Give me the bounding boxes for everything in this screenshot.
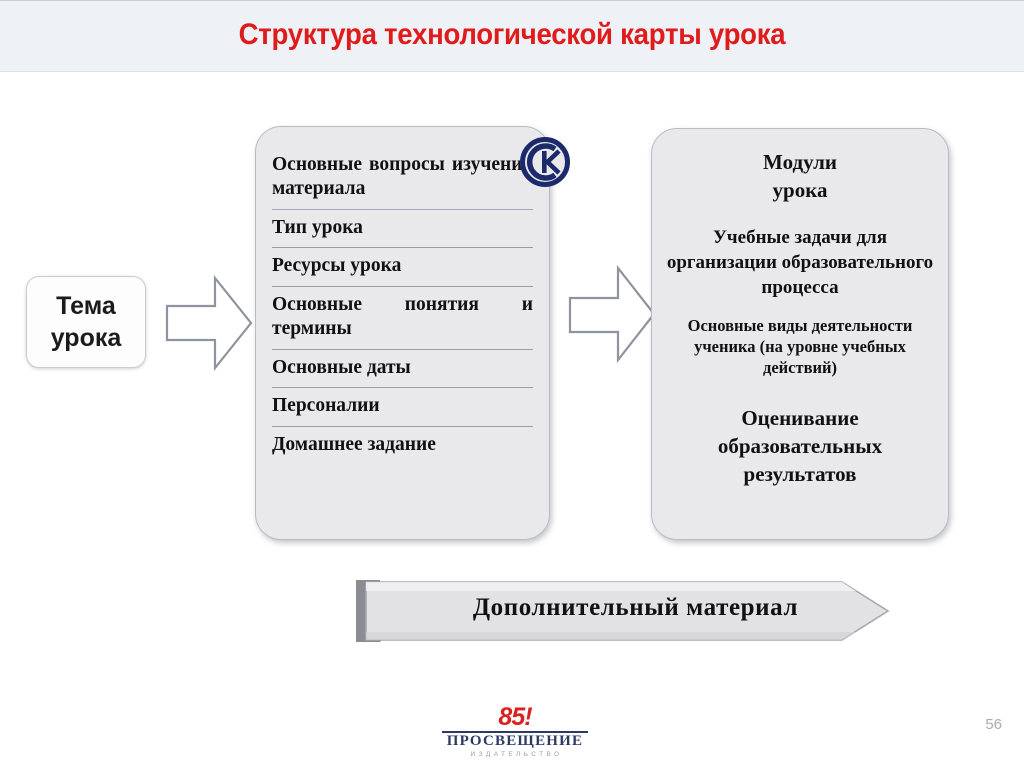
ribbon-shape [350, 570, 895, 650]
arrow-right-icon-1 [163, 268, 255, 378]
topic-box[interactable]: Тема урока [26, 276, 146, 368]
lesson-modules-title-line-1: Модули [662, 149, 938, 177]
list-item[interactable]: Тип урока [272, 210, 533, 249]
list-item[interactable]: Основные даты [272, 350, 533, 389]
sk-monogram-logo-icon [519, 136, 571, 188]
lesson-card-items-list: Основные вопросы изучения материала Тип … [272, 153, 533, 465]
lesson-modules-title: Модули урока [662, 149, 938, 204]
topic-box-line-2: урока [51, 322, 122, 354]
list-item[interactable]: Ресурсы урока [272, 248, 533, 287]
page-number: 56 [985, 716, 1002, 733]
modules-block-student-activities[interactable]: Основные виды деятельности ученика (на у… [662, 315, 938, 378]
additional-material-ribbon[interactable]: Дополнительный материал [350, 570, 895, 650]
lesson-modules-panel: Модули урока Учебные задачи для организа… [651, 128, 949, 540]
lesson-modules-title-line-2: урока [662, 177, 938, 205]
list-item[interactable]: Домашнее задание [272, 427, 533, 465]
list-item[interactable]: Основные понятия и термины [272, 287, 533, 350]
modules-block-assessment[interactable]: Оценивание образовательных результатов [662, 404, 938, 488]
publisher-logo-name: ПРОСВЕЩЕНИЕ [440, 734, 590, 750]
publisher-logo-subtitle: ИЗДАТЕЛЬСТВО [440, 750, 590, 759]
publisher-logo-anniversary: 85! [440, 706, 590, 730]
lesson-card-structure-panel: Основные вопросы изучения материала Тип … [255, 126, 550, 540]
page-title: Структура технологической карты урока [41, 18, 983, 52]
publisher-logo: 85! ПРОСВЕЩЕНИЕ ИЗДАТЕЛЬСТВО [440, 706, 590, 759]
topic-box-line-1: Тема [56, 290, 116, 322]
list-item[interactable]: Основные вопросы изучения материала [272, 153, 533, 210]
arrow-right-icon-2 [566, 258, 658, 370]
modules-block-learning-tasks[interactable]: Учебные задачи для организации образоват… [662, 226, 938, 300]
list-item[interactable]: Персоналии [272, 388, 533, 427]
